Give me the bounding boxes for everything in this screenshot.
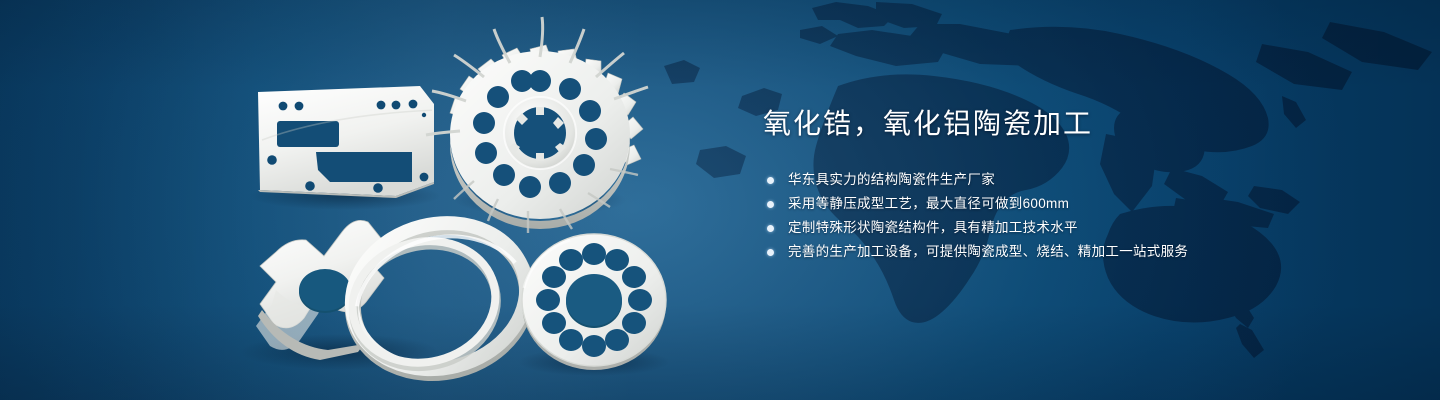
ceramic-plate-part <box>258 86 438 198</box>
hero-banner: 氧化锆，氧化铝陶瓷加工 华东具实力的结构陶瓷件生产厂家 采用等静压成型工艺，最大… <box>0 0 1440 400</box>
feature-list: 华东具实力的结构陶瓷件生产厂家 采用等静压成型工艺，最大直径可做到600mm 定… <box>763 168 1383 264</box>
list-item: 完善的生产加工设备，可提供陶瓷成型、烧结、精加工一站式服务 <box>763 240 1383 264</box>
list-item-label: 采用等静压成型工艺，最大直径可做到600mm <box>788 192 1069 216</box>
bullet-dot-icon <box>767 201 774 208</box>
bullet-dot-icon <box>767 249 774 256</box>
list-item: 华东具实力的结构陶瓷件生产厂家 <box>763 168 1383 192</box>
list-item-label: 完善的生产加工设备，可提供陶瓷成型、烧结、精加工一站式服务 <box>788 240 1188 264</box>
list-item: 定制特殊形状陶瓷结构件，具有精加工技术水平 <box>763 216 1383 240</box>
list-item-label: 定制特殊形状陶瓷结构件，具有精加工技术水平 <box>788 216 1078 240</box>
bullet-dot-icon <box>767 177 774 184</box>
ceramic-perforated-disc-part <box>522 234 666 370</box>
product-photo-cluster <box>0 0 760 400</box>
page-title: 氧化锆，氧化铝陶瓷加工 <box>763 106 1383 142</box>
banner-text-column: 氧化锆，氧化铝陶瓷加工 华东具实力的结构陶瓷件生产厂家 采用等静压成型工艺，最大… <box>763 106 1383 264</box>
list-item: 采用等静压成型工艺，最大直径可做到600mm <box>763 192 1383 216</box>
list-item-label: 华东具实力的结构陶瓷件生产厂家 <box>788 168 995 192</box>
bullet-dot-icon <box>767 225 774 232</box>
